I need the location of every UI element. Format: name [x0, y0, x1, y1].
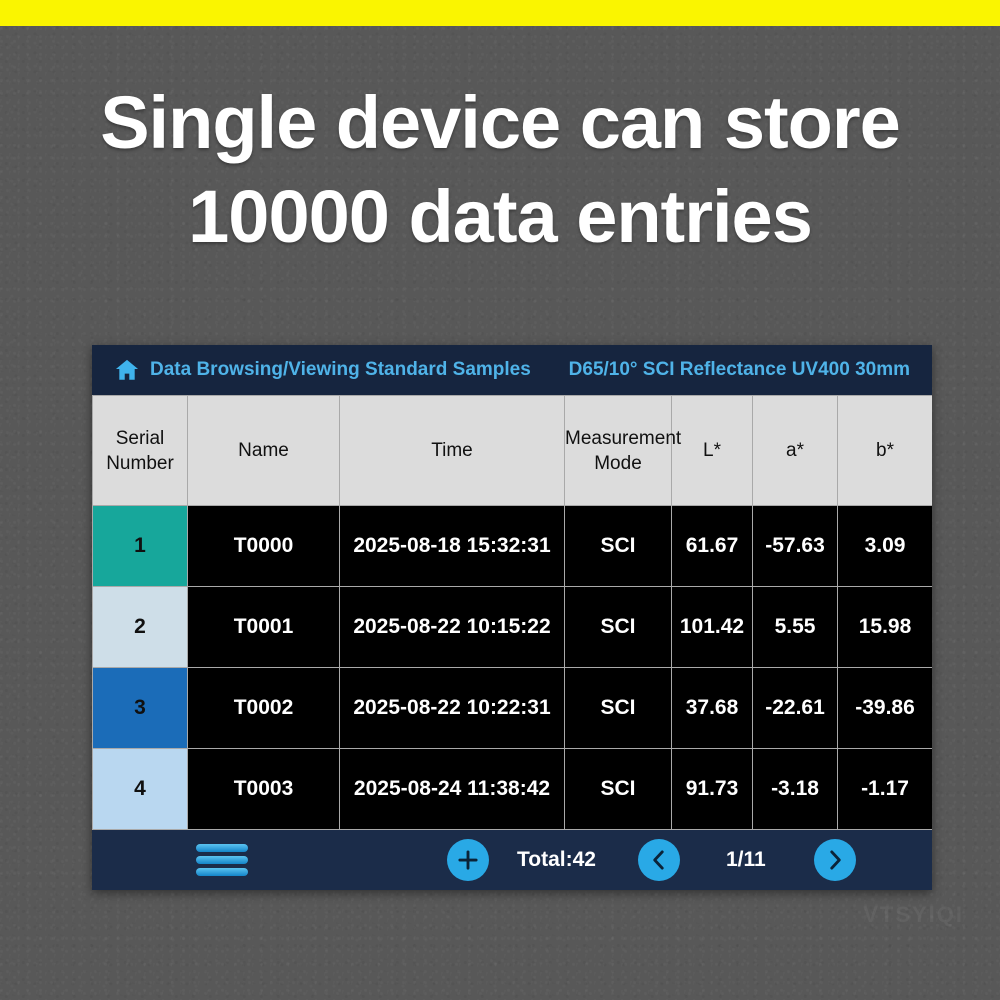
table-body: 1 T0000 2025-08-18 15:32:31 SCI 61.67 -5… — [93, 506, 933, 830]
data-table: Serial Number Name Time Measurement Mode… — [92, 395, 932, 830]
table-row[interactable]: 4 T0003 2025-08-24 11:38:42 SCI 91.73 -3… — [93, 749, 933, 830]
cell-l-star[interactable]: 91.73 — [672, 749, 753, 830]
column-header-measurement-mode[interactable]: Measurement Mode — [565, 396, 672, 506]
cell-name[interactable]: T0001 — [188, 587, 340, 668]
cell-time[interactable]: 2025-08-22 10:15:22 — [340, 587, 565, 668]
cell-b-star[interactable]: 3.09 — [838, 506, 933, 587]
column-header-serial-number[interactable]: Serial Number — [93, 396, 188, 506]
cell-b-star[interactable]: 15.98 — [838, 587, 933, 668]
yellow-top-band — [0, 0, 1000, 26]
cell-l-star[interactable]: 61.67 — [672, 506, 753, 587]
headline-line-2: 10000 data entries — [0, 170, 1000, 264]
home-icon[interactable] — [114, 357, 140, 383]
cell-name[interactable]: T0002 — [188, 668, 340, 749]
device-screen: Data Browsing/Viewing Standard Samples D… — [92, 345, 932, 890]
cell-b-star[interactable]: -39.86 — [838, 668, 933, 749]
cell-name[interactable]: T0000 — [188, 506, 340, 587]
titlebar-left-title: Data Browsing/Viewing Standard Samples — [150, 359, 531, 381]
hamburger-menu-icon[interactable] — [196, 844, 248, 876]
table-header: Serial Number Name Time Measurement Mode… — [93, 396, 933, 506]
page-headline: Single device can store 10000 data entri… — [0, 76, 1000, 264]
column-header-time[interactable]: Time — [340, 396, 565, 506]
cell-time[interactable]: 2025-08-22 10:22:31 — [340, 668, 565, 749]
column-header-b-star[interactable]: b* — [838, 396, 933, 506]
watermark: VTSYIQI — [863, 902, 964, 928]
cell-serial-number[interactable]: 3 — [93, 668, 188, 749]
cell-serial-number[interactable]: 2 — [93, 587, 188, 668]
cell-l-star[interactable]: 101.42 — [672, 587, 753, 668]
cell-a-star[interactable]: -3.18 — [753, 749, 838, 830]
cell-measurement-mode[interactable]: SCI — [565, 506, 672, 587]
cell-name[interactable]: T0003 — [188, 749, 340, 830]
titlebar-right-title: D65/10° SCI Reflectance UV400 30mm — [569, 359, 910, 381]
cell-a-star[interactable]: 5.55 — [753, 587, 838, 668]
cell-measurement-mode[interactable]: SCI — [565, 749, 672, 830]
cell-time[interactable]: 2025-08-18 15:32:31 — [340, 506, 565, 587]
column-header-a-star[interactable]: a* — [753, 396, 838, 506]
cell-a-star[interactable]: -57.63 — [753, 506, 838, 587]
column-header-l-star[interactable]: L* — [672, 396, 753, 506]
cell-a-star[interactable]: -22.61 — [753, 668, 838, 749]
table-header-row: Serial Number Name Time Measurement Mode… — [93, 396, 933, 506]
page-indicator-label: 1/11 — [726, 848, 766, 872]
cell-measurement-mode[interactable]: SCI — [565, 587, 672, 668]
cell-serial-number[interactable]: 1 — [93, 506, 188, 587]
footer-toolbar: Total:42 1/11 — [92, 830, 932, 890]
total-count-label: Total:42 — [517, 848, 596, 872]
cell-serial-number[interactable]: 4 — [93, 749, 188, 830]
table-row[interactable]: 1 T0000 2025-08-18 15:32:31 SCI 61.67 -5… — [93, 506, 933, 587]
cell-l-star[interactable]: 37.68 — [672, 668, 753, 749]
headline-line-1: Single device can store — [0, 76, 1000, 170]
chevron-left-circle-icon[interactable] — [638, 839, 680, 881]
cell-measurement-mode[interactable]: SCI — [565, 668, 672, 749]
plus-circle-icon[interactable] — [447, 839, 489, 881]
cell-time[interactable]: 2025-08-24 11:38:42 — [340, 749, 565, 830]
chevron-right-circle-icon[interactable] — [814, 839, 856, 881]
cell-b-star[interactable]: -1.17 — [838, 749, 933, 830]
table-row[interactable]: 3 T0002 2025-08-22 10:22:31 SCI 37.68 -2… — [93, 668, 933, 749]
page-root: Single device can store 10000 data entri… — [0, 0, 1000, 1000]
table-row[interactable]: 2 T0001 2025-08-22 10:15:22 SCI 101.42 5… — [93, 587, 933, 668]
column-header-name[interactable]: Name — [188, 396, 340, 506]
titlebar: Data Browsing/Viewing Standard Samples D… — [92, 345, 932, 395]
